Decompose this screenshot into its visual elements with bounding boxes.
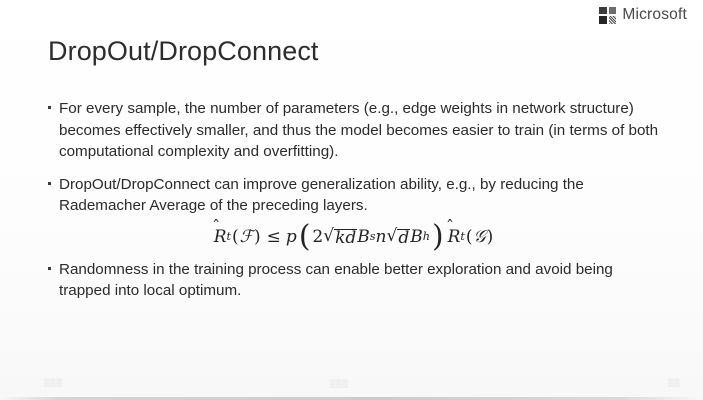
- formula-group-paren-close: ): [432, 228, 444, 246]
- slide-body: For every sample, the number of paramete…: [48, 98, 660, 313]
- formula-term-Bs-letter: B: [357, 229, 370, 246]
- bullet-item-1: For every sample, the number of paramete…: [48, 98, 660, 163]
- formula-rhs-argument: 𝒢: [474, 229, 486, 246]
- slide-title: DropOut/DropConnect: [48, 36, 319, 67]
- bullet-text-1: For every sample, the number of paramete…: [59, 98, 660, 163]
- formula-lhs-letter: R: [214, 227, 227, 247]
- footer-page-number: ▒▒: [668, 378, 680, 387]
- formula-sqrt-d: √ d: [387, 228, 411, 247]
- bullet-text-3: Randomness in the training process can e…: [59, 259, 660, 302]
- microsoft-wordmark: Microsoft: [622, 6, 687, 24]
- formula-relation-symbol: ≤: [267, 229, 281, 246]
- slide-footer: ▒▒▒ ▒▒▒ ▒▒: [0, 376, 703, 394]
- formula-term-Bh-subscript: h: [423, 231, 430, 242]
- formula-lhs-argument: ℱ: [240, 229, 253, 246]
- logo-square-top-right: [609, 7, 617, 15]
- formula-coefficient: 2: [312, 229, 323, 246]
- logo-square-bottom-right: [609, 16, 617, 24]
- footer-left-text: ▒▒▒: [44, 378, 63, 387]
- formula-rhs-paren-close: ): [487, 229, 494, 246]
- bullet-item-2: DropOut/DropConnect can improve generali…: [48, 174, 660, 217]
- formula-term-n: n: [376, 229, 387, 246]
- formula-lhs-paren-open: (: [232, 229, 239, 246]
- slide-canvas: Microsoft DropOut/DropConnect For every …: [0, 0, 703, 400]
- formula-rhs-variable: ̂ R: [448, 229, 461, 246]
- logo-square-bottom-left: [599, 16, 607, 24]
- bullet-item-3: Randomness in the training process can e…: [48, 259, 660, 302]
- footer-center-text: ▒▒▒: [330, 379, 349, 388]
- logo-square-top-left: [599, 7, 607, 15]
- formula-rhs-letter: R: [448, 227, 461, 247]
- formula-radicand-d: d: [397, 229, 410, 247]
- formula-radical-sign-1: √: [323, 228, 334, 245]
- bullet-marker-icon: [48, 106, 59, 109]
- formula-radicand-kd: kd: [334, 229, 357, 247]
- formula-factor-p: p: [286, 229, 297, 246]
- bullet-text-2: DropOut/DropConnect can improve generali…: [59, 174, 660, 217]
- formula-term-Bh-letter: B: [410, 229, 423, 246]
- bullet-marker-icon: [48, 267, 59, 270]
- bullet-marker-icon: [48, 182, 59, 185]
- formula-row: ̂ R t(ℱ) ≤ p ( 2 √ kd Bsn √ d Bh ): [48, 228, 660, 247]
- formula-lhs-paren-close: ): [254, 229, 261, 246]
- formula-sqrt-kd: √ kd: [323, 228, 357, 247]
- formula-radical-sign-2: √: [387, 228, 398, 245]
- microsoft-squares-icon: [599, 7, 616, 24]
- microsoft-logo: Microsoft: [599, 6, 687, 24]
- rademacher-bound-formula: ̂ R t(ℱ) ≤ p ( 2 √ kd Bsn √ d Bh ): [214, 228, 495, 247]
- formula-rhs-subscript: t: [460, 231, 465, 242]
- formula-rhs-paren-open: (: [466, 229, 473, 246]
- formula-group-paren-open: (: [299, 228, 311, 246]
- formula-lhs-subscript: t: [227, 231, 232, 242]
- formula-lhs-variable: ̂ R: [214, 229, 227, 246]
